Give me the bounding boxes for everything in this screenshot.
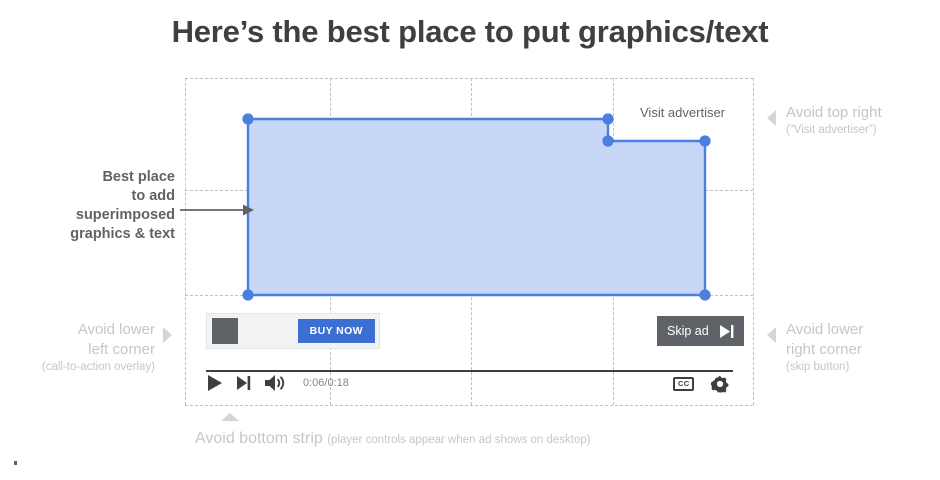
best-place-label-text: Best place to add superimposed graphics … (70, 169, 175, 242)
skip-ad-button[interactable]: Skip ad (657, 316, 744, 346)
gridline-vertical-right (753, 78, 754, 405)
avoid-lower-left-main: Avoid lower left corner (0, 320, 155, 359)
volume-icon[interactable] (265, 375, 285, 391)
player-progress-bar[interactable] (206, 370, 733, 372)
advertiser-thumbnail (212, 318, 238, 344)
skip-forward-icon (720, 325, 734, 338)
gridline-vertical-col3 (613, 78, 614, 405)
player-controls-left: 0:06/0:18 (208, 375, 349, 391)
call-to-action-overlay[interactable]: BUY NOW (206, 313, 380, 349)
avoid-lower-left-sub: (call-to-action overlay) (0, 360, 155, 375)
avoid-lower-left-label: Avoid lower left corner (call-to-action … (0, 320, 155, 375)
avoid-lower-right-main: Avoid lower right corner (786, 320, 863, 359)
avoid-top-right-pointer-icon (767, 110, 776, 126)
player-controls-right: CC (673, 375, 729, 393)
avoid-top-right-sub: (“Visit advertiser”) (786, 123, 882, 138)
avoid-top-right-main: Avoid top right (786, 103, 882, 122)
buy-now-button[interactable]: BUY NOW (298, 319, 375, 344)
next-track-icon[interactable] (237, 376, 251, 390)
gridline-horizontal-bottom (185, 405, 753, 406)
gridline-vertical-col1 (330, 78, 331, 405)
page-title: Here’s the best place to put graphics/te… (0, 14, 940, 50)
closed-captions-icon[interactable]: CC (673, 377, 694, 391)
gridline-horizontal-lower (185, 295, 753, 296)
avoid-lower-left-pointer-icon (163, 327, 172, 343)
gridline-vertical-left (185, 78, 186, 405)
video-frame-grid (185, 78, 753, 405)
settings-gear-icon[interactable] (711, 375, 729, 393)
avoid-lower-right-pointer-icon (767, 327, 776, 343)
play-icon[interactable] (208, 375, 223, 391)
avoid-bottom-strip-label: Avoid bottom strip (player controls appe… (195, 430, 591, 448)
skip-ad-label: Skip ad (667, 324, 709, 338)
avoid-top-right-label: Avoid top right (“Visit advertiser”) (786, 103, 882, 138)
gridline-horizontal-top (185, 78, 753, 79)
avoid-lower-right-label: Avoid lower right corner (skip button) (786, 320, 863, 375)
best-place-label: Best place to add superimposed graphics … (20, 168, 175, 245)
visit-advertiser-label: Visit advertiser (640, 105, 725, 120)
gridline-horizontal-upper (185, 190, 753, 191)
corner-artifact-dot (14, 461, 17, 465)
avoid-lower-right-sub: (skip button) (786, 360, 863, 375)
gridline-vertical-col2 (471, 78, 472, 405)
avoid-bottom-strip-main: Avoid bottom strip (195, 430, 323, 447)
avoid-bottom-strip-pointer-icon (221, 413, 239, 421)
avoid-bottom-strip-sub: (player controls appear when ad shows on… (327, 434, 590, 446)
player-timestamp: 0:06/0:18 (303, 377, 349, 389)
